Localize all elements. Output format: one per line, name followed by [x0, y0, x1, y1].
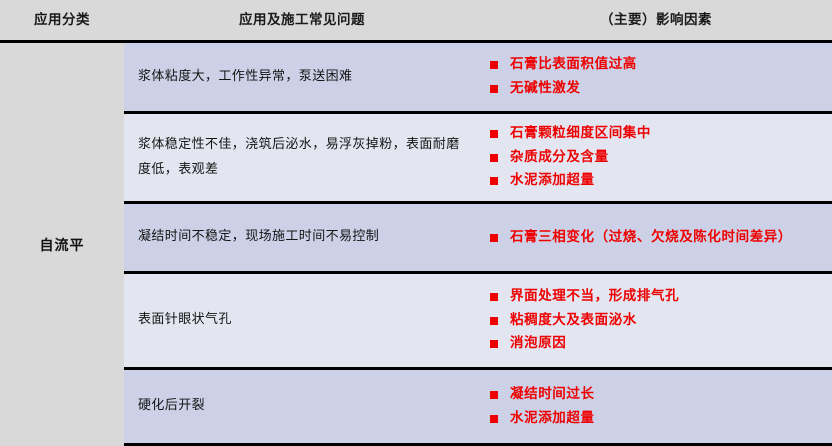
factor-text: 石膏颗粒细度区间集中 — [510, 124, 651, 144]
factor-item: 界面处理不当，形成排气孔 — [490, 287, 822, 307]
factor-item: 水泥添加超量 — [490, 409, 822, 429]
table-row: 凝结时间不稳定，现场施工时间不易控制 石膏三相变化（过烧、欠烧及陈化时间差异） — [124, 204, 832, 274]
factor-text: 消泡原因 — [510, 334, 566, 354]
factor-item: 杂质成分及含量 — [490, 148, 822, 168]
factor-text: 无碱性激发 — [510, 79, 581, 99]
problem-cell: 凝结时间不稳定，现场施工时间不易控制 — [124, 204, 480, 271]
square-bullet-icon — [490, 234, 498, 242]
factor-text: 石膏三相变化（过烧、欠烧及陈化时间差异） — [510, 228, 792, 248]
factor-item: 石膏颗粒细度区间集中 — [490, 124, 822, 144]
issue-factor-table: 应用分类 应用及施工常见问题 （主要）影响因素 自流平 浆体粘度大，工作性异常，… — [0, 0, 832, 446]
factor-item: 无碱性激发 — [490, 79, 822, 99]
problem-text: 硬化后开裂 — [138, 394, 205, 419]
square-bullet-icon — [490, 85, 498, 93]
factor-text: 水泥添加超量 — [510, 171, 595, 191]
factor-item: 凝结时间过长 — [490, 385, 822, 405]
square-bullet-icon — [490, 391, 498, 399]
square-bullet-icon — [490, 61, 498, 69]
factor-item: 水泥添加超量 — [490, 171, 822, 191]
factor-text: 界面处理不当，形成排气孔 — [510, 287, 679, 307]
factor-cell: 石膏三相变化（过烧、欠烧及陈化时间差异） — [480, 204, 832, 271]
factor-cell: 界面处理不当，形成排气孔 粘稠度大及表面泌水 消泡原因 — [480, 274, 832, 367]
problem-cell: 硬化后开裂 — [124, 370, 480, 443]
problem-text: 凝结时间不稳定，现场施工时间不易控制 — [138, 225, 379, 250]
problem-cell: 浆体粘度大，工作性异常，泵送困难 — [124, 43, 480, 111]
square-bullet-icon — [490, 154, 498, 162]
table-body: 自流平 浆体粘度大，工作性异常，泵送困难 石膏比表面积值过高 无碱性激发 — [0, 43, 832, 446]
factor-cell: 石膏颗粒细度区间集中 杂质成分及含量 水泥添加超量 — [480, 114, 832, 201]
problem-cell: 浆体稳定性不佳，浇筑后泌水，易浮灰掉粉，表面耐磨度低，表观差 — [124, 114, 480, 201]
factor-cell: 石膏比表面积值过高 无碱性激发 — [480, 43, 832, 111]
square-bullet-icon — [490, 177, 498, 185]
factor-text: 粘稠度大及表面泌水 — [510, 311, 637, 331]
factor-item: 粘稠度大及表面泌水 — [490, 311, 822, 331]
header-common-problems: 应用及施工常见问题 — [124, 0, 480, 40]
category-cell-self-leveling: 自流平 — [0, 43, 124, 446]
problem-text: 表面针眼状气孔 — [138, 308, 232, 333]
table-row: 硬化后开裂 凝结时间过长 水泥添加超量 — [124, 370, 832, 446]
factor-cell: 凝结时间过长 水泥添加超量 — [480, 370, 832, 443]
table-row: 浆体稳定性不佳，浇筑后泌水，易浮灰掉粉，表面耐磨度低，表观差 石膏颗粒细度区间集… — [124, 114, 832, 204]
header-influencing-factors: （主要）影响因素 — [480, 0, 832, 40]
header-application-category: 应用分类 — [0, 0, 124, 40]
factor-text: 凝结时间过长 — [510, 385, 595, 405]
square-bullet-icon — [490, 415, 498, 423]
factor-text: 水泥添加超量 — [510, 409, 595, 429]
factor-text: 杂质成分及含量 — [510, 148, 609, 168]
table-row: 表面针眼状气孔 界面处理不当，形成排气孔 粘稠度大及表面泌水 消泡原因 — [124, 274, 832, 370]
table-rows: 浆体粘度大，工作性异常，泵送困难 石膏比表面积值过高 无碱性激发 浆体稳定性 — [124, 43, 832, 446]
square-bullet-icon — [490, 340, 498, 348]
factor-item: 石膏三相变化（过烧、欠烧及陈化时间差异） — [490, 228, 822, 248]
problem-cell: 表面针眼状气孔 — [124, 274, 480, 367]
problem-text: 浆体粘度大，工作性异常，泵送困难 — [138, 65, 352, 90]
square-bullet-icon — [490, 130, 498, 138]
square-bullet-icon — [490, 317, 498, 325]
square-bullet-icon — [490, 293, 498, 301]
factor-item: 石膏比表面积值过高 — [490, 55, 822, 75]
factor-item: 消泡原因 — [490, 334, 822, 354]
factor-text: 石膏比表面积值过高 — [510, 55, 637, 75]
table-header-row: 应用分类 应用及施工常见问题 （主要）影响因素 — [0, 0, 832, 43]
table-row: 浆体粘度大，工作性异常，泵送困难 石膏比表面积值过高 无碱性激发 — [124, 43, 832, 114]
problem-text: 浆体稳定性不佳，浇筑后泌水，易浮灰掉粉，表面耐磨度低，表观差 — [138, 133, 466, 182]
category-label: 自流平 — [40, 235, 85, 255]
